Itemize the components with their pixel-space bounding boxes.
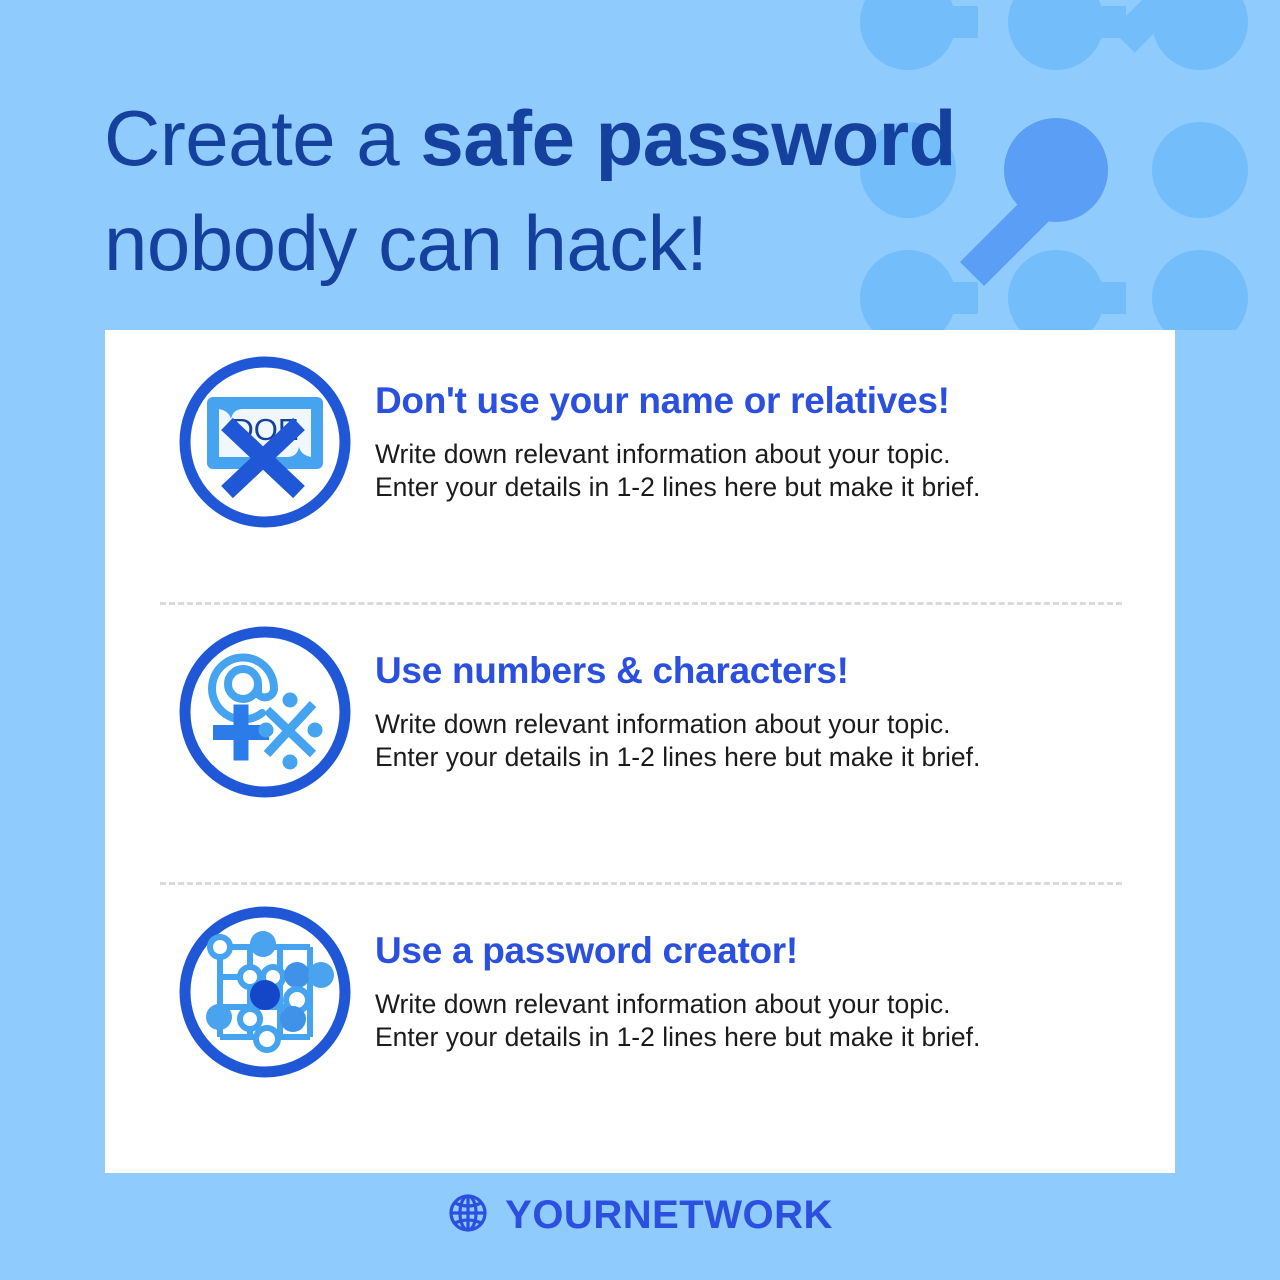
divider-1	[160, 602, 1122, 605]
divider-2	[160, 882, 1122, 885]
headline-normal-text: Create a	[104, 94, 420, 182]
crossed-out-name-badge-icon: DOE	[175, 352, 355, 532]
footer-logo: YOURNETWORK	[0, 1192, 1280, 1239]
at-plus-asterisk-icon	[175, 622, 355, 802]
brand-name: YOURNETWORK	[505, 1193, 833, 1238]
headline-bold-text: safe password	[420, 94, 955, 182]
tip-desc-1-line-2: Enter your details in 1-2 lines here but…	[375, 471, 980, 504]
tip-desc-2-line-1: Write down relevant information about yo…	[375, 708, 980, 741]
tip-desc-3-line-1: Write down relevant information about yo…	[375, 988, 980, 1021]
page-title: Create a safe password nobody can hack!	[104, 86, 1104, 295]
headline-line-2: nobody can hack!	[104, 191, 1104, 296]
globe-icon	[447, 1192, 489, 1239]
tip-item-3: Use a password creator! Write down relev…	[105, 902, 1175, 1082]
pattern-grid-icon	[175, 902, 355, 1082]
tip-item-2: Use numbers & characters! Write down rel…	[105, 622, 1175, 802]
tip-text-2: Use numbers & characters! Write down rel…	[375, 622, 980, 775]
tip-desc-1-line-1: Write down relevant information about yo…	[375, 438, 980, 471]
tip-title-3: Use a password creator!	[375, 930, 980, 972]
tip-item-1: DOE Don't use your name or relatives! Wr…	[105, 352, 1175, 532]
tip-title-2: Use numbers & characters!	[375, 650, 980, 692]
tip-desc-2-line-2: Enter your details in 1-2 lines here but…	[375, 741, 980, 774]
tip-title-1: Don't use your name or relatives!	[375, 380, 980, 422]
tip-text-3: Use a password creator! Write down relev…	[375, 902, 980, 1055]
headline-line-1: Create a safe password	[104, 86, 1104, 191]
tip-desc-3-line-2: Enter your details in 1-2 lines here but…	[375, 1021, 980, 1054]
tip-text-1: Don't use your name or relatives! Write …	[375, 352, 980, 505]
tips-card: DOE Don't use your name or relatives! Wr…	[105, 330, 1175, 1173]
